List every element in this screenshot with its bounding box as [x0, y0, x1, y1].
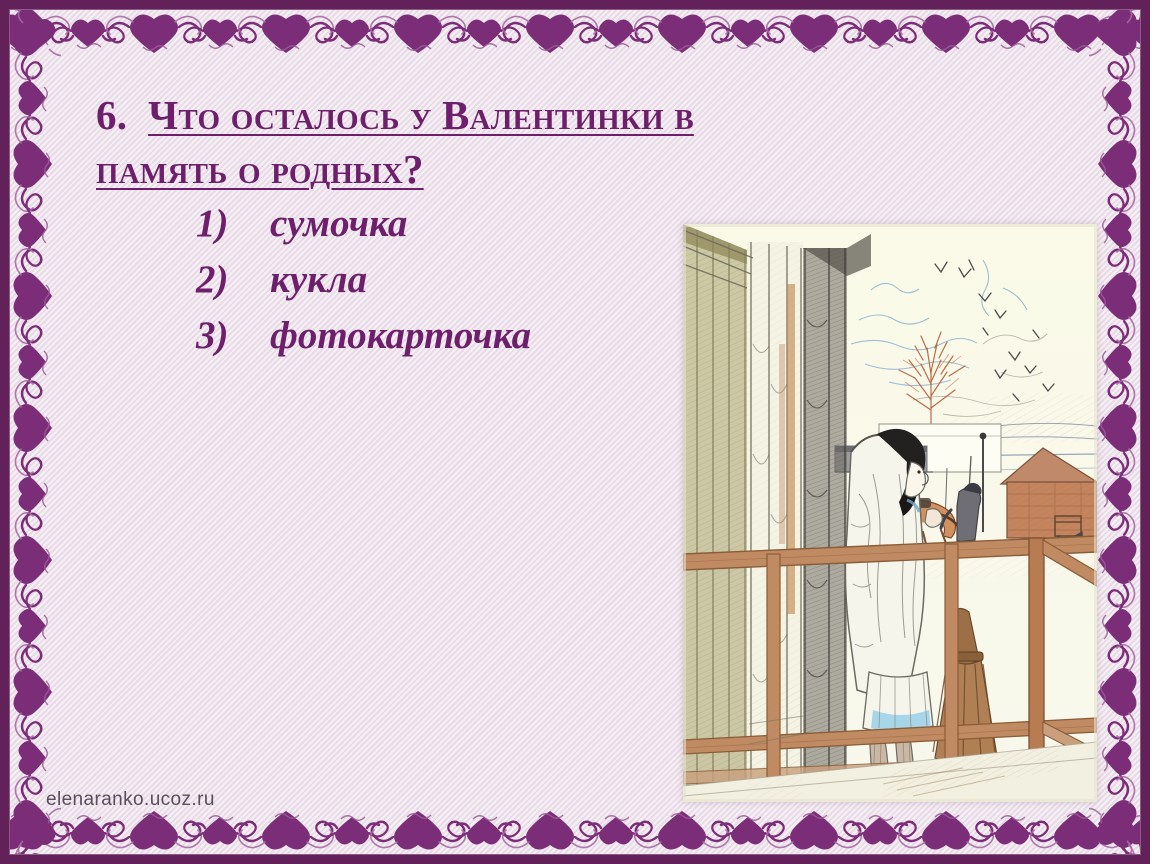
answer-option-3[interactable]: 3) фотокарточка	[196, 308, 531, 364]
question-heading: 6. Что осталось у Валентинки в память о …	[96, 88, 696, 196]
slide: 6. Что осталось у Валентинки в память о …	[0, 0, 1150, 864]
answer-label: сумочка	[270, 196, 407, 252]
answer-marker: 3)	[196, 308, 270, 364]
answer-label: кукла	[270, 252, 367, 308]
question-text: Что осталось у Валентинки в память о род…	[96, 92, 694, 192]
slide-content: 6. Что осталось у Валентинки в память о …	[0, 0, 1150, 864]
answer-list: 1) сумочка 2) кукла 3) фотокарточка	[196, 196, 531, 364]
illustration-image	[683, 224, 1097, 802]
answer-marker: 2)	[196, 252, 270, 308]
answer-marker: 1)	[196, 196, 270, 252]
answer-option-1[interactable]: 1) сумочка	[196, 196, 531, 252]
question-number: 6.	[96, 92, 127, 138]
answer-option-2[interactable]: 2) кукла	[196, 252, 531, 308]
answer-label: фотокарточка	[270, 308, 531, 364]
watermark: elenaranko.ucoz.ru	[46, 789, 215, 811]
